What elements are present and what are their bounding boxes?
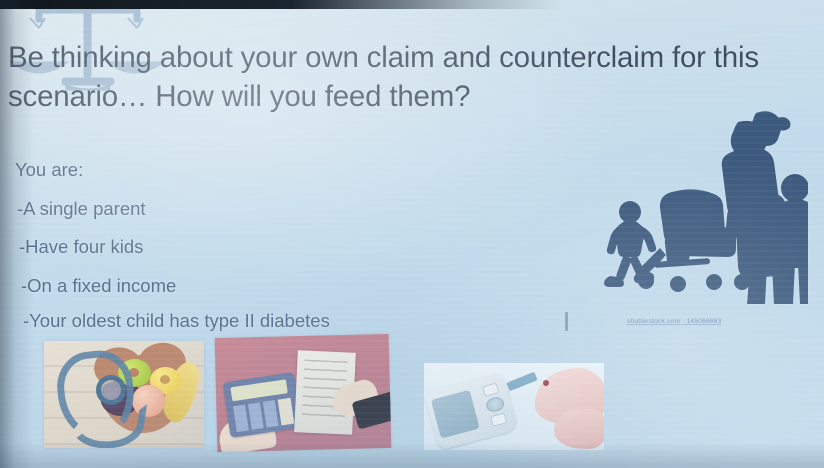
calculator-icon (223, 372, 302, 438)
stethoscope-head-icon (96, 375, 126, 405)
list-item: -Your oldest child has type II diabetes (23, 310, 330, 332)
stock-watermark-label: shutterstock.com · 145066863 (627, 318, 721, 325)
projected-slide-photo: Be thinking about your own claim and cou… (0, 0, 824, 468)
photo-glucose-test (424, 363, 604, 450)
glucose-meter-icon (424, 371, 518, 450)
text-cursor-mark (565, 312, 568, 331)
list-item: -Have four kids (19, 236, 143, 258)
photo-budget-calculator (215, 334, 392, 452)
family-silhouette-image (596, 104, 808, 304)
page-title: Be thinking about your own claim and cou… (8, 38, 808, 116)
hand-lower (554, 409, 604, 449)
calculator-keys (233, 398, 294, 432)
meter-select-button (485, 395, 506, 413)
meter-up-button (482, 382, 499, 397)
scenario-intro-label: You are: (15, 159, 83, 181)
list-item: -On a fixed income (21, 275, 176, 297)
photo-healthy-food (44, 341, 204, 448)
meter-down-button (490, 412, 507, 427)
calculator-screen (230, 379, 287, 401)
meter-display (431, 390, 480, 439)
blood-drop-icon (543, 380, 549, 386)
screen-top-bezel (0, 0, 560, 9)
test-strip (506, 372, 537, 392)
list-item: -A single parent (17, 198, 146, 220)
